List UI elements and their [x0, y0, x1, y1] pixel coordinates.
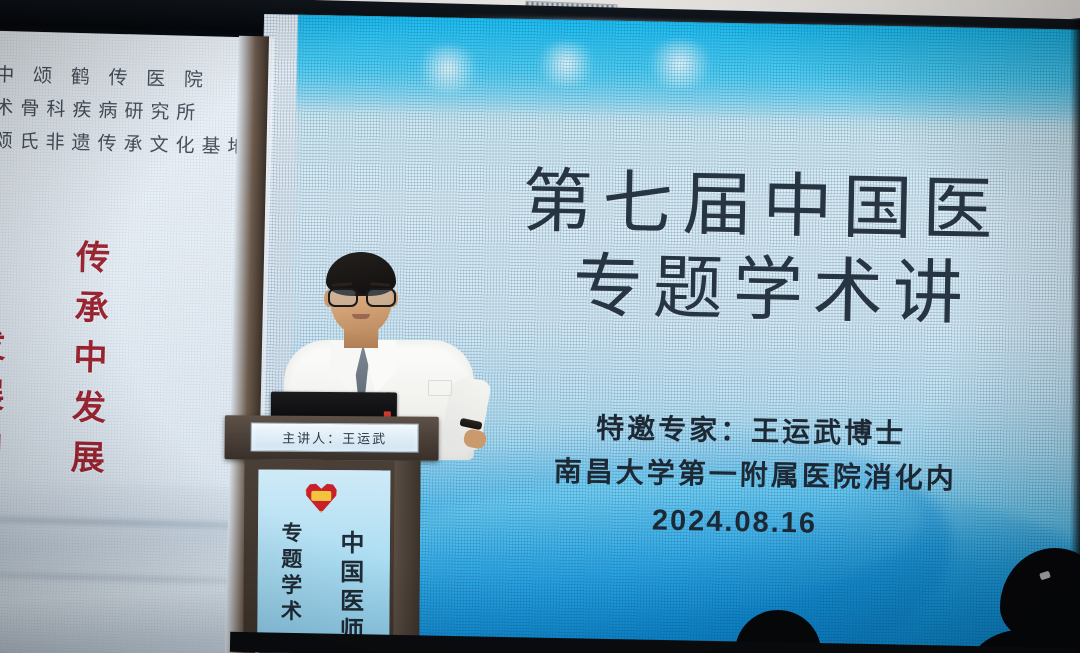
nameplate-text: 主讲人：王运武 — [282, 428, 387, 448]
podium-top-surface: 主讲人：王运武 — [225, 415, 439, 460]
eyeglasses-icon — [326, 288, 396, 304]
podium-vertical-text-left: 专题学术 — [275, 522, 306, 626]
eyeglass-bridge — [355, 294, 367, 296]
podium-front-panel: 专题学术 中国医师 — [257, 469, 390, 653]
lectern-podium: 主讲人：王运武 专题学术 中国医师 — [223, 415, 439, 653]
title-line-1: 第七届中国医 — [522, 161, 1004, 254]
speaker-nameplate: 主讲人：王运武 — [251, 422, 419, 452]
heart-badge-logo-icon — [304, 482, 338, 513]
podium-side-edge — [393, 460, 420, 653]
eyeglass-lens-right — [366, 288, 396, 307]
presentation-title: 第七届中国医 专题学术讲 — [520, 161, 1003, 338]
right-edge-shadow — [1070, 18, 1080, 653]
title-line-2: 专题学术讲 — [572, 246, 1002, 338]
speaker-mouth — [352, 314, 370, 319]
coat-pocket — [428, 380, 452, 396]
podium-body: 专题学术 中国医师 — [243, 459, 420, 653]
conference-photo-scene: 第七届中国医 专题学术讲 特邀专家：王运武博士 南昌大学第一附属医院消化内 20… — [0, 0, 1080, 653]
heart-inner-band — [311, 491, 331, 501]
podium-vertical-text-right: 中国医师 — [331, 530, 367, 646]
eyeglass-lens-left — [328, 288, 358, 307]
